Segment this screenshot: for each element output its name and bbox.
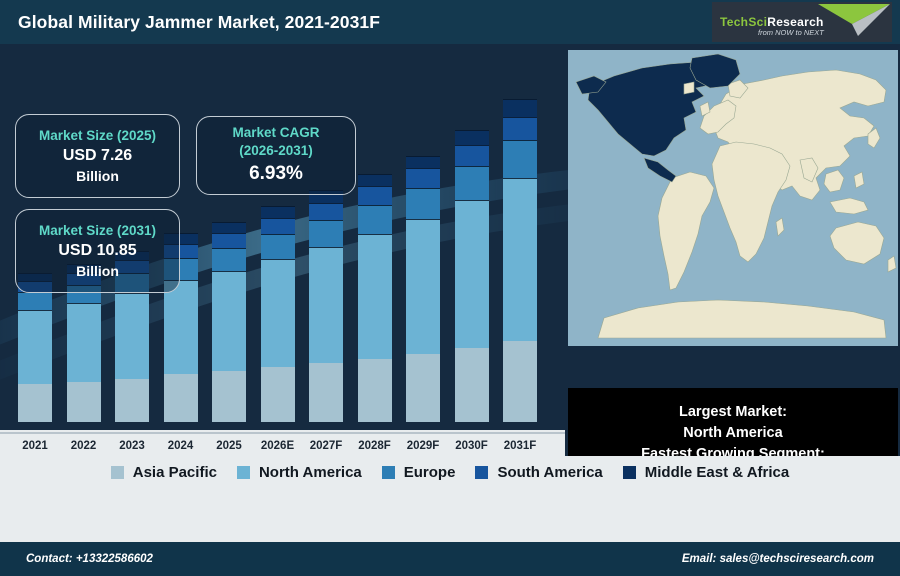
page-title: Global Military Jammer Market, 2021-2031… <box>18 12 380 33</box>
bar-segment-south-america <box>309 203 343 220</box>
fastest-segment-label: Fastest Growing Segment: <box>641 444 825 456</box>
x-axis-label: 2022 <box>58 440 110 452</box>
legend-swatch <box>237 466 250 479</box>
bar-segment-middle-east-africa <box>358 174 392 187</box>
x-axis-label: 2023 <box>106 440 158 452</box>
bar-segment-asia-pacific <box>358 359 392 422</box>
bar-segment-europe <box>261 234 295 259</box>
bar-segment-north-america <box>455 200 489 347</box>
x-axis-label: 2031F <box>494 440 546 452</box>
market-cagr-box: Market CAGR (2026-2031) 6.93% <box>196 116 356 195</box>
bar-segment-north-america <box>358 234 392 359</box>
market-size-2025-label: Market Size (2025) <box>24 127 171 144</box>
bar-segment-asia-pacific <box>67 382 101 422</box>
market-size-2031-unit: Billion <box>24 262 171 280</box>
bar-segment-asia-pacific <box>309 363 343 422</box>
market-cagr-period: (2026-2031) <box>205 142 347 159</box>
bar-segment-north-america <box>212 271 246 371</box>
bar-segment-north-america <box>309 247 343 363</box>
bar-segment-europe <box>358 205 392 234</box>
bar-segment-south-america <box>455 145 489 166</box>
legend-label: Europe <box>404 464 456 481</box>
bar-segment-asia-pacific <box>212 371 246 422</box>
x-axis-label: 2030F <box>446 440 498 452</box>
bar-segment-europe <box>212 248 246 272</box>
x-axis-label: 2028F <box>349 440 401 452</box>
bar-segment-asia-pacific <box>503 341 537 422</box>
bar-segment-north-america <box>164 280 198 375</box>
legend-item[interactable]: Asia Pacific <box>111 464 217 481</box>
legend-swatch <box>111 466 124 479</box>
logo-text-techsci: TechSci <box>720 15 767 29</box>
legend-label: South America <box>497 464 602 481</box>
key-insights-callout: Largest Market: North America Fastest Gr… <box>568 388 898 456</box>
legend-label: Middle East & Africa <box>645 464 789 481</box>
logo-tagline: from NOW to NEXT <box>758 28 824 37</box>
legend-item[interactable]: Middle East & Africa <box>623 464 789 481</box>
chart-bar <box>261 206 295 422</box>
map-region-iceland <box>684 82 694 94</box>
market-cagr-label: Market CAGR <box>205 124 347 141</box>
chart-bar <box>455 130 489 422</box>
bar-segment-asia-pacific <box>406 354 440 422</box>
market-cagr-value: 6.93% <box>205 162 347 187</box>
bar-segment-asia-pacific <box>115 379 149 422</box>
x-axis-label: 2029F <box>397 440 449 452</box>
x-axis-labels: 202120222023202420252026E2027F2028F2029F… <box>0 434 565 454</box>
bar-segment-middle-east-africa <box>212 222 246 233</box>
market-size-2025-unit: Billion <box>24 167 171 185</box>
contact-phone: Contact: +13322586602 <box>26 553 153 565</box>
legend-item[interactable]: Europe <box>382 464 456 481</box>
legend-swatch <box>623 466 636 479</box>
x-axis-label: 2024 <box>155 440 207 452</box>
x-axis-label: 2021 <box>9 440 61 452</box>
chart-legend: Asia PacificNorth AmericaEuropeSouth Ame… <box>0 456 900 542</box>
world-map <box>568 50 898 346</box>
bar-segment-south-america <box>212 233 246 248</box>
bar-segment-europe <box>503 140 537 178</box>
bar-segment-europe <box>309 220 343 247</box>
bar-segment-north-america <box>406 219 440 354</box>
bar-segment-asia-pacific <box>455 348 489 422</box>
contact-email: Email: sales@techsciresearch.com <box>682 553 874 565</box>
bar-segment-middle-east-africa <box>406 156 440 169</box>
market-size-2031-box: Market Size (2031) USD 10.85 Billion <box>15 209 180 293</box>
legend-label: North America <box>259 464 362 481</box>
bar-segment-asia-pacific <box>164 374 198 422</box>
largest-market-label: Largest Market: <box>679 402 787 423</box>
legend-label: Asia Pacific <box>133 464 217 481</box>
bar-segment-north-america <box>115 293 149 379</box>
legend-swatch <box>382 466 395 479</box>
bar-segment-middle-east-africa <box>503 99 537 117</box>
logo-text-research: Research <box>767 15 823 29</box>
x-axis-label: 2025 <box>203 440 255 452</box>
market-size-2025-value: USD 7.26 <box>24 146 171 167</box>
chart-bar <box>212 222 246 422</box>
techsci-research-logo: TechSciResearch from NOW to NEXT <box>712 2 892 42</box>
bar-segment-europe <box>455 166 489 200</box>
market-size-2031-value: USD 10.85 <box>24 241 171 262</box>
logo-arrow-icon <box>812 2 892 42</box>
bar-segment-south-america <box>406 168 440 188</box>
market-size-2025-box: Market Size (2025) USD 7.26 Billion <box>15 114 180 198</box>
bar-segment-middle-east-africa <box>455 130 489 145</box>
bar-segment-north-america <box>503 178 537 341</box>
chart-bar <box>18 273 52 422</box>
bar-segment-middle-east-africa <box>261 206 295 218</box>
bar-segment-asia-pacific <box>261 367 295 422</box>
chart-bar <box>406 156 440 422</box>
header-bar: Global Military Jammer Market, 2021-2031… <box>0 0 900 44</box>
bar-segment-north-america <box>18 310 52 384</box>
bar-segment-north-america <box>261 259 295 367</box>
legend-swatch <box>475 466 488 479</box>
footer-bar: Contact: +13322586602 Email: sales@techs… <box>0 542 900 576</box>
bar-segment-south-america <box>358 186 392 204</box>
chart-bar <box>503 99 537 422</box>
bar-segment-south-america <box>261 218 295 234</box>
bar-segment-europe <box>18 292 52 309</box>
world-map-svg <box>568 50 898 346</box>
infographic-panel: 202120222023202420252026E2027F2028F2029F… <box>0 44 900 456</box>
largest-market-value: North America <box>683 423 782 444</box>
x-axis-label: 2027F <box>300 440 352 452</box>
bar-segment-asia-pacific <box>18 384 52 422</box>
bar-segment-europe <box>406 188 440 219</box>
legend-item[interactable]: North America <box>237 464 362 481</box>
chart-bar <box>309 190 343 422</box>
bar-segment-south-america <box>503 117 537 141</box>
bar-segment-north-america <box>67 303 101 382</box>
market-size-2031-label: Market Size (2031) <box>24 222 171 239</box>
chart-bar <box>358 174 392 422</box>
x-axis-label: 2026E <box>252 440 304 452</box>
legend-item[interactable]: South America <box>475 464 602 481</box>
